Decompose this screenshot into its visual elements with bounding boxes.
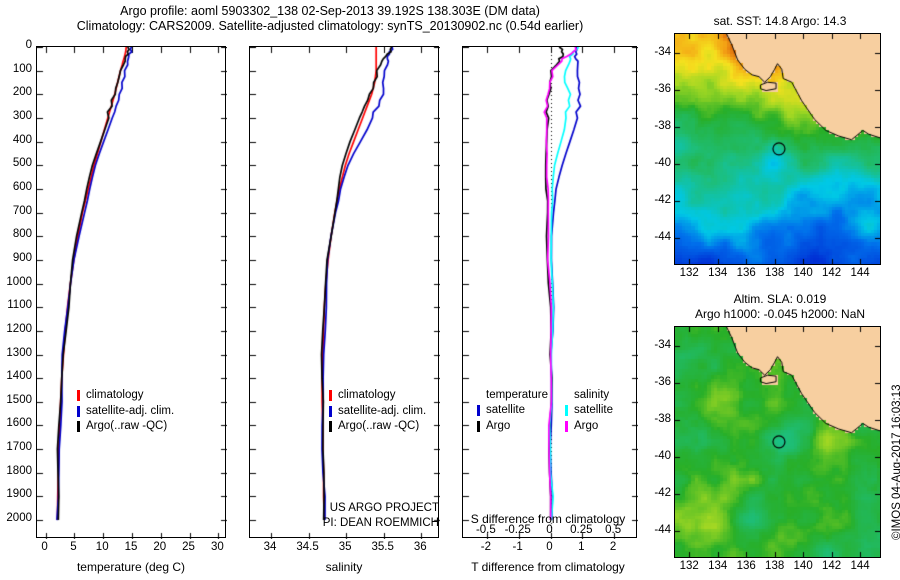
temperature-depth-tick: 200 bbox=[13, 86, 32, 98]
legend-entry: satellite-adj. clim. bbox=[329, 404, 426, 420]
sla-lat-tick: -44 bbox=[654, 524, 671, 536]
temperature-depth-tick: 800 bbox=[13, 228, 32, 240]
temperature-depth-tick: 700 bbox=[13, 205, 32, 217]
temperature-x-tick: 0 bbox=[41, 541, 47, 553]
legend-entry: climatology bbox=[329, 388, 426, 404]
sst-lat-tick: -42 bbox=[654, 194, 671, 206]
temperature-depth-tick: 100 bbox=[13, 63, 32, 75]
temperature-x-tick: 15 bbox=[125, 541, 138, 553]
salinity-difference-x-tick: 0 bbox=[546, 524, 552, 536]
difference-profile-canvas bbox=[463, 47, 638, 539]
project-credit: US ARGO PROJECT PI: DEAN ROEMMICH bbox=[239, 501, 439, 531]
legend-column-header: temperature bbox=[486, 388, 548, 403]
temperature-depth-tick: 1300 bbox=[6, 347, 32, 359]
temperature-depth-tick: 1500 bbox=[6, 394, 32, 406]
legend-entry: Argo bbox=[477, 419, 548, 435]
sla-lat-tick: -38 bbox=[654, 413, 671, 425]
temperature-depth-tick: 900 bbox=[13, 252, 32, 264]
temperature-depth-tick: 1200 bbox=[6, 323, 32, 335]
argo-profile-figure: Argo profile: aoml 5903302_138 02-Sep-20… bbox=[0, 0, 900, 580]
sla-lon-tick: 144 bbox=[850, 560, 869, 572]
temperature-x-tick: 30 bbox=[211, 541, 224, 553]
legend-color-swatch bbox=[565, 421, 568, 432]
legend-color-swatch bbox=[329, 406, 332, 417]
sst-lon-tick: 140 bbox=[794, 267, 813, 279]
sla-lon-tick: 134 bbox=[708, 560, 727, 572]
legend-entry: climatology bbox=[77, 388, 174, 404]
legend-label: Argo(..raw -QC) bbox=[86, 419, 167, 435]
legend-color-swatch bbox=[77, 390, 80, 401]
legend-entry: satellite bbox=[565, 403, 613, 419]
temperature-x-tick: 20 bbox=[153, 541, 166, 553]
sla-lon-tick: 138 bbox=[765, 560, 784, 572]
legend-label: Argo bbox=[486, 419, 510, 434]
legend-entry: Argo(..raw -QC) bbox=[329, 419, 426, 435]
legend-column: temperaturesatelliteArgo bbox=[477, 388, 548, 434]
legend-color-swatch bbox=[329, 390, 332, 401]
temperature-panel: climatologysatellite-adj. clim.Argo(..ra… bbox=[0, 0, 235, 580]
legend-label: Argo bbox=[574, 419, 598, 434]
legend-label: climatology bbox=[338, 388, 396, 404]
temperature-depth-tick: 1400 bbox=[6, 370, 32, 382]
sst-lat-tick: -44 bbox=[654, 231, 671, 243]
legend-column: salinitysatelliteArgo bbox=[565, 388, 613, 434]
difference-panel: temperaturesatelliteArgosalinitysatellit… bbox=[455, 0, 660, 580]
temperature-difference-x-tick: -1 bbox=[513, 541, 523, 553]
salinity-profile-canvas bbox=[250, 47, 440, 539]
sla-lat-tick: -36 bbox=[654, 376, 671, 388]
legend-label: satellite bbox=[574, 403, 613, 418]
salinity-x-tick: 35 bbox=[339, 541, 352, 553]
temperature-depth-tick: 400 bbox=[13, 134, 32, 146]
legend-color-swatch bbox=[477, 405, 480, 416]
difference-legend: temperaturesatelliteArgosalinitysatellit… bbox=[477, 388, 642, 438]
sst-lon-tick: 134 bbox=[708, 267, 727, 279]
project-name: US ARGO PROJECT bbox=[239, 501, 439, 516]
sla-map-title-line1: Altim. SLA: 0.019 bbox=[660, 292, 900, 306]
sst-lat-tick: -34 bbox=[654, 46, 671, 58]
temperature-depth-tick: 1800 bbox=[6, 465, 32, 477]
sla-lon-tick: 132 bbox=[680, 560, 699, 572]
sla-map-title-line2: Argo h1000: -0.045 h2000: NaN bbox=[660, 307, 900, 321]
temperature-difference-x-tick: -2 bbox=[481, 541, 491, 553]
salinity-difference-x-tick: 0.5 bbox=[605, 524, 621, 536]
sla-map-panel: Altim. SLA: 0.019 Argo h1000: -0.045 h20… bbox=[660, 290, 900, 580]
sla-lat-tick: -40 bbox=[654, 450, 671, 462]
legend-entry: satellite bbox=[477, 403, 548, 419]
temperature-difference-x-tick: 0 bbox=[546, 541, 552, 553]
temperature-x-tick: 25 bbox=[182, 541, 195, 553]
temperature-x-tick: 5 bbox=[70, 541, 76, 553]
temperature-depth-tick: 0 bbox=[26, 39, 32, 51]
legend-color-swatch bbox=[77, 421, 80, 432]
sla-lon-tick: 140 bbox=[794, 560, 813, 572]
pi-name: PI: DEAN ROEMMICH bbox=[239, 516, 439, 531]
sla-lon-tick: 142 bbox=[822, 560, 841, 572]
sla-map-canvas bbox=[675, 327, 880, 557]
salinity-x-tick: 34.5 bbox=[296, 541, 318, 553]
legend-color-swatch bbox=[77, 406, 80, 417]
salinity-x-tick: 34 bbox=[264, 541, 277, 553]
salinity-legend: climatologysatellite-adj. clim.Argo(..ra… bbox=[329, 388, 426, 435]
legend-label: satellite-adj. clim. bbox=[86, 404, 174, 420]
legend-label: satellite bbox=[486, 403, 525, 418]
temperature-depth-tick: 1900 bbox=[6, 488, 32, 500]
legend-column-header: salinity bbox=[574, 388, 613, 403]
temperature-depth-tick: 1000 bbox=[6, 276, 32, 288]
temperature-depth-tick: 1100 bbox=[7, 299, 32, 311]
temperature-depth-tick: 1700 bbox=[6, 441, 32, 453]
legend-color-swatch bbox=[565, 405, 568, 416]
legend-label: Argo(..raw -QC) bbox=[338, 419, 419, 435]
salinity-x-tick: 36 bbox=[414, 541, 427, 553]
copyright-label: ©IMOS 04-Aug-2017 16:03:13 bbox=[891, 384, 900, 540]
temperature-depth-tick: 2000 bbox=[6, 512, 32, 524]
legend-color-swatch bbox=[477, 421, 480, 432]
salinity-difference-x-tick: -0.25 bbox=[505, 524, 531, 536]
temperature-depth-tick: 300 bbox=[13, 110, 32, 122]
sst-lon-tick: 132 bbox=[680, 267, 699, 279]
sst-lat-tick: -38 bbox=[654, 120, 671, 132]
legend-label: climatology bbox=[86, 388, 144, 404]
sst-lon-tick: 144 bbox=[850, 267, 869, 279]
temperature-legend: climatologysatellite-adj. clim.Argo(..ra… bbox=[77, 388, 174, 435]
sla-lon-tick: 136 bbox=[737, 560, 756, 572]
legend-label: satellite-adj. clim. bbox=[338, 404, 426, 420]
legend-entry: satellite-adj. clim. bbox=[77, 404, 174, 420]
temperature-difference-axis-title: T difference from climatology bbox=[453, 560, 643, 574]
sst-lon-tick: 136 bbox=[737, 267, 756, 279]
legend-entry: Argo(..raw -QC) bbox=[77, 419, 174, 435]
salinity-panel: climatologysatellite-adj. clim.Argo(..ra… bbox=[235, 0, 455, 580]
salinity-axis-title: salinity bbox=[249, 560, 439, 574]
sla-lat-tick: -34 bbox=[654, 339, 671, 351]
temperature-depth-tick: 600 bbox=[13, 181, 32, 193]
sst-lon-tick: 138 bbox=[765, 267, 784, 279]
temperature-depth-tick: 500 bbox=[13, 157, 32, 169]
sst-lon-tick: 142 bbox=[822, 267, 841, 279]
salinity-difference-x-tick: 0.25 bbox=[570, 524, 592, 536]
legend-color-swatch bbox=[329, 421, 332, 432]
temperature-x-tick: 10 bbox=[96, 541, 109, 553]
salinity-x-tick: 35.5 bbox=[371, 541, 393, 553]
temperature-profile-canvas bbox=[37, 47, 227, 539]
sst-map-title: sat. SST: 14.8 Argo: 14.3 bbox=[660, 14, 900, 28]
legend-entry: Argo bbox=[565, 419, 613, 435]
temperature-depth-tick: 1600 bbox=[6, 417, 32, 429]
sst-lat-tick: -40 bbox=[654, 157, 671, 169]
sst-map-panel: sat. SST: 14.8 Argo: 14.3 bbox=[660, 0, 900, 290]
sla-lat-tick: -42 bbox=[654, 487, 671, 499]
sst-lat-tick: -36 bbox=[654, 83, 671, 95]
temperature-axis-title: temperature (deg C) bbox=[36, 560, 226, 574]
temperature-difference-x-tick: 1 bbox=[578, 541, 584, 553]
sst-map-canvas bbox=[675, 34, 880, 264]
salinity-difference-x-tick: -0.5 bbox=[476, 524, 496, 536]
temperature-difference-x-tick: 2 bbox=[610, 541, 616, 553]
